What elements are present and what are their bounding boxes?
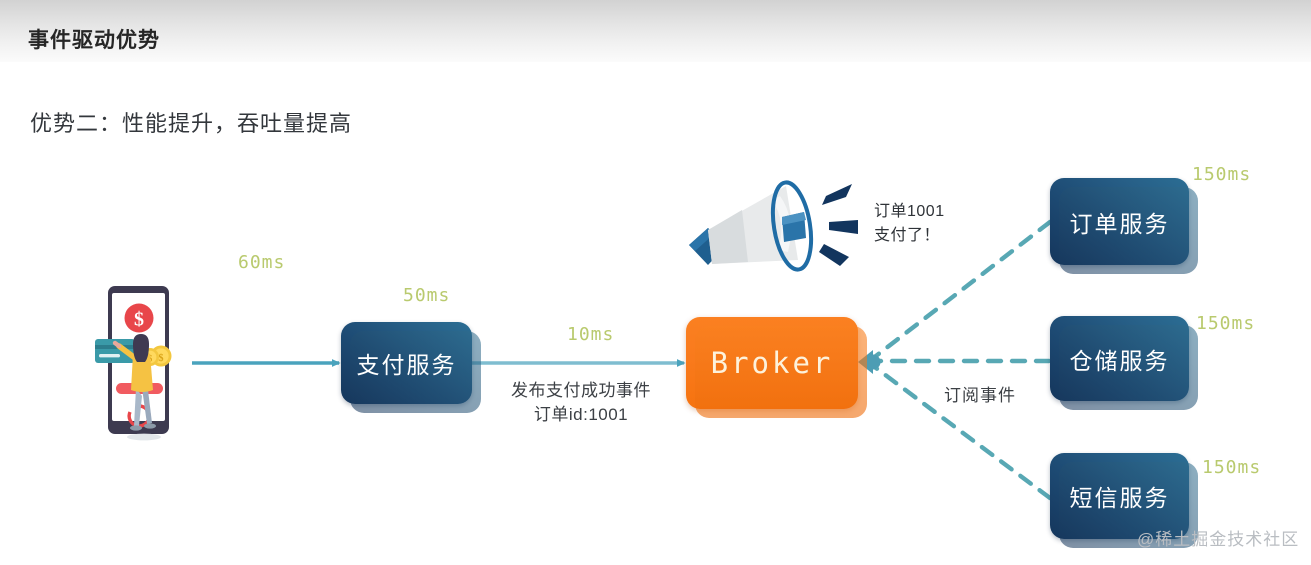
node-sms-service-label: 短信服务	[1070, 479, 1170, 513]
latency-label-payment-process: 50ms	[403, 285, 450, 306]
caption-shout-line2: 支付了！	[874, 224, 945, 248]
page-title: 事件驱动优势	[28, 24, 160, 54]
caption-publish-line2: 订单id:1001	[496, 403, 666, 427]
node-broker-label: Broker	[711, 346, 834, 380]
node-broker[interactable]: Broker	[686, 317, 858, 409]
latency-label-payment-to-broker: 10ms	[567, 324, 614, 345]
caption-subscribe-event: 订阅事件	[944, 384, 1016, 408]
caption-publish-event: 发布支付成功事件 订单id:1001	[496, 379, 666, 427]
node-warehouse-service[interactable]: 仓储服务	[1050, 316, 1189, 401]
node-order-service[interactable]: 订单服务	[1050, 178, 1189, 265]
node-warehouse-service-label: 仓储服务	[1070, 342, 1170, 376]
caption-shout-line1: 订单1001	[874, 200, 945, 224]
megaphone-icon	[686, 172, 866, 282]
svg-text:$: $	[159, 353, 164, 364]
caption-publish-line1: 发布支付成功事件	[496, 379, 666, 403]
latency-label-sms-service: 150ms	[1202, 457, 1261, 478]
node-payment-service-label: 支付服务	[357, 346, 457, 380]
node-payment-service[interactable]: 支付服务	[341, 322, 472, 404]
mobile-payment-illustration: $ $ $	[94, 284, 198, 444]
watermark: @稀土掘金技术社区	[1137, 525, 1299, 550]
latency-label-client-to-payment: 60ms	[238, 252, 285, 273]
caption-megaphone-shout: 订单1001 支付了！	[874, 200, 945, 248]
latency-label-order-service: 150ms	[1192, 164, 1251, 185]
diagram-canvas: $ $ $	[0, 62, 1311, 565]
broker-inbound-node	[866, 355, 881, 370]
node-order-service-label: 订单服务	[1070, 205, 1170, 239]
svg-text:$: $	[134, 309, 144, 331]
latency-label-warehouse-service: 150ms	[1196, 313, 1255, 334]
header-bar	[0, 0, 1311, 62]
